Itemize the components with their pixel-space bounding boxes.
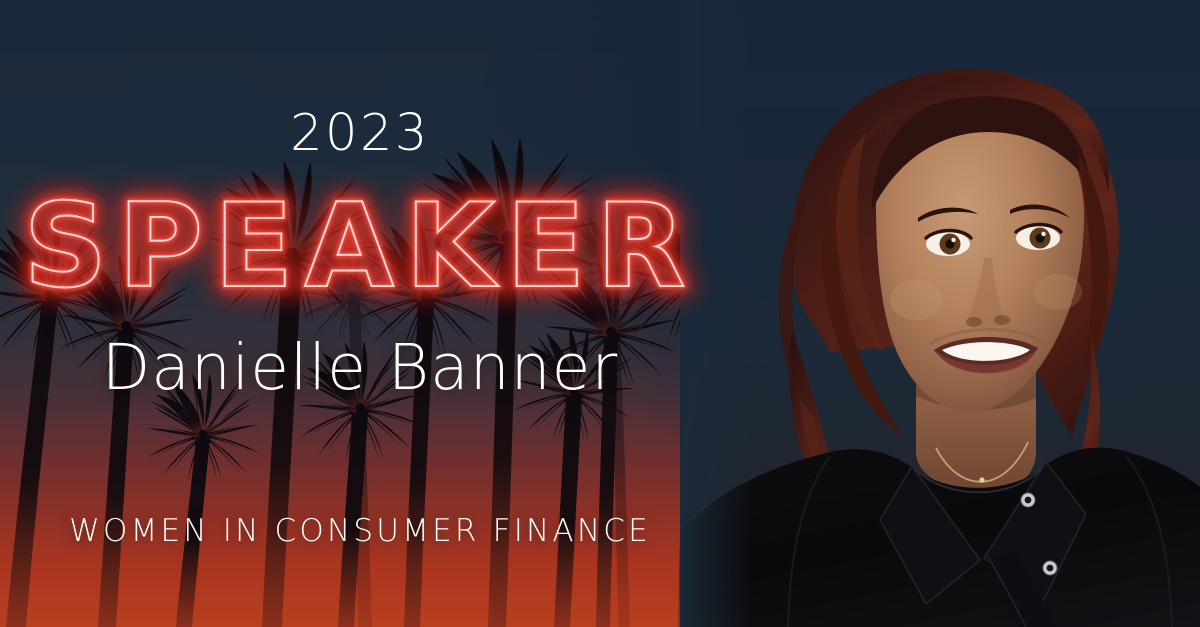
- speaker-neon-title: SPEAKER SPEAKER SPEAKER SPEAKER: [0, 178, 720, 333]
- svg-text:SPEAKER: SPEAKER: [23, 179, 696, 314]
- banner-text-block: 2023 SPEAKER SPEAKER: [0, 0, 720, 627]
- organization-name: WOMEN IN CONSUMER FINANCE: [0, 516, 720, 547]
- speaker-portrait-photo: [680, 0, 1200, 627]
- speaker-name: Danielle Banner: [0, 336, 720, 399]
- year-label: 2023: [0, 108, 720, 159]
- speaker-announcement-banner: 2023 SPEAKER SPEAKER: [0, 0, 1200, 627]
